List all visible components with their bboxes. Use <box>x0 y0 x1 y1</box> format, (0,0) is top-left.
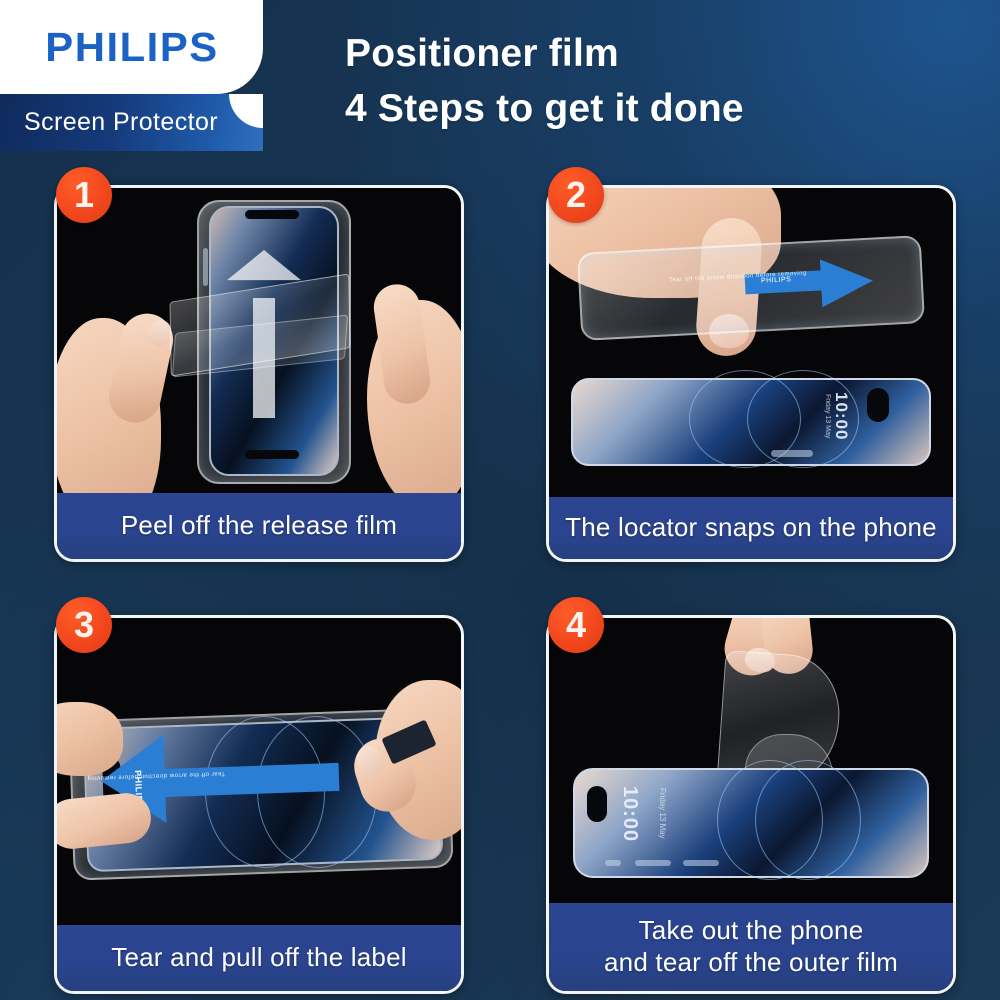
philips-wordmark: PHILIPS <box>45 24 218 71</box>
screen-protector-label: Screen Protector <box>0 108 218 137</box>
step-4-caption: Take out the phone and tear off the oute… <box>549 903 953 991</box>
step-panel-1: Peel off the release film <box>54 185 464 562</box>
step-4-caption-line-1: Take out the phone <box>604 915 898 947</box>
phone-clock: 10:00 <box>618 786 641 842</box>
film-ellipse-right <box>755 760 861 880</box>
step-3-caption: Tear and pull off the label <box>57 925 461 991</box>
poster-canvas: PHILIPS Screen Protector Positioner film… <box>0 0 1000 1000</box>
phone-clock: 10:00 <box>831 392 851 440</box>
phone-charge-port <box>605 860 621 866</box>
volume-button <box>203 248 208 286</box>
step-panel-3: PHILIPS Tear off the arrow direction bef… <box>54 615 464 994</box>
phone-date: Friday 13 May <box>824 394 831 438</box>
band-corner-notch <box>229 94 263 128</box>
step-badge-2: 2 <box>548 167 604 223</box>
step-badge-1: 1 <box>56 167 112 223</box>
phone-dynamic-island <box>587 786 607 822</box>
step-panel-4: 10:00 Friday 13 May Take out the phone a… <box>546 615 956 994</box>
step-2-caption: The locator snaps on the phone <box>549 497 953 559</box>
step-1-caption: Peel off the release film <box>57 493 461 559</box>
phone-bottom-bar <box>245 450 299 459</box>
step-badge-3: 3 <box>56 597 112 653</box>
title-line-1: Positioner film <box>345 32 619 75</box>
phone-dynamic-island <box>867 388 889 422</box>
step-badge-4: 4 <box>548 597 604 653</box>
phone-notch <box>245 210 299 219</box>
philips-logo-block: PHILIPS <box>0 0 263 94</box>
phone-speaker-slot-1 <box>635 860 671 866</box>
title-line-2: 4 Steps to get it done <box>345 81 985 136</box>
page-title: Positioner film 4 Steps to get it done <box>345 26 985 137</box>
phone-speaker-slot-2 <box>683 860 719 866</box>
step-panel-2: PHILIPS Tear off the arrow direction bef… <box>546 185 956 562</box>
step-4-caption-line-2: and tear off the outer film <box>604 947 898 979</box>
left-hand <box>57 702 123 776</box>
screen-protector-band: Screen Protector <box>0 94 263 151</box>
phone-speaker-slot <box>771 450 813 457</box>
phone-date: Friday 13 May <box>658 788 667 839</box>
